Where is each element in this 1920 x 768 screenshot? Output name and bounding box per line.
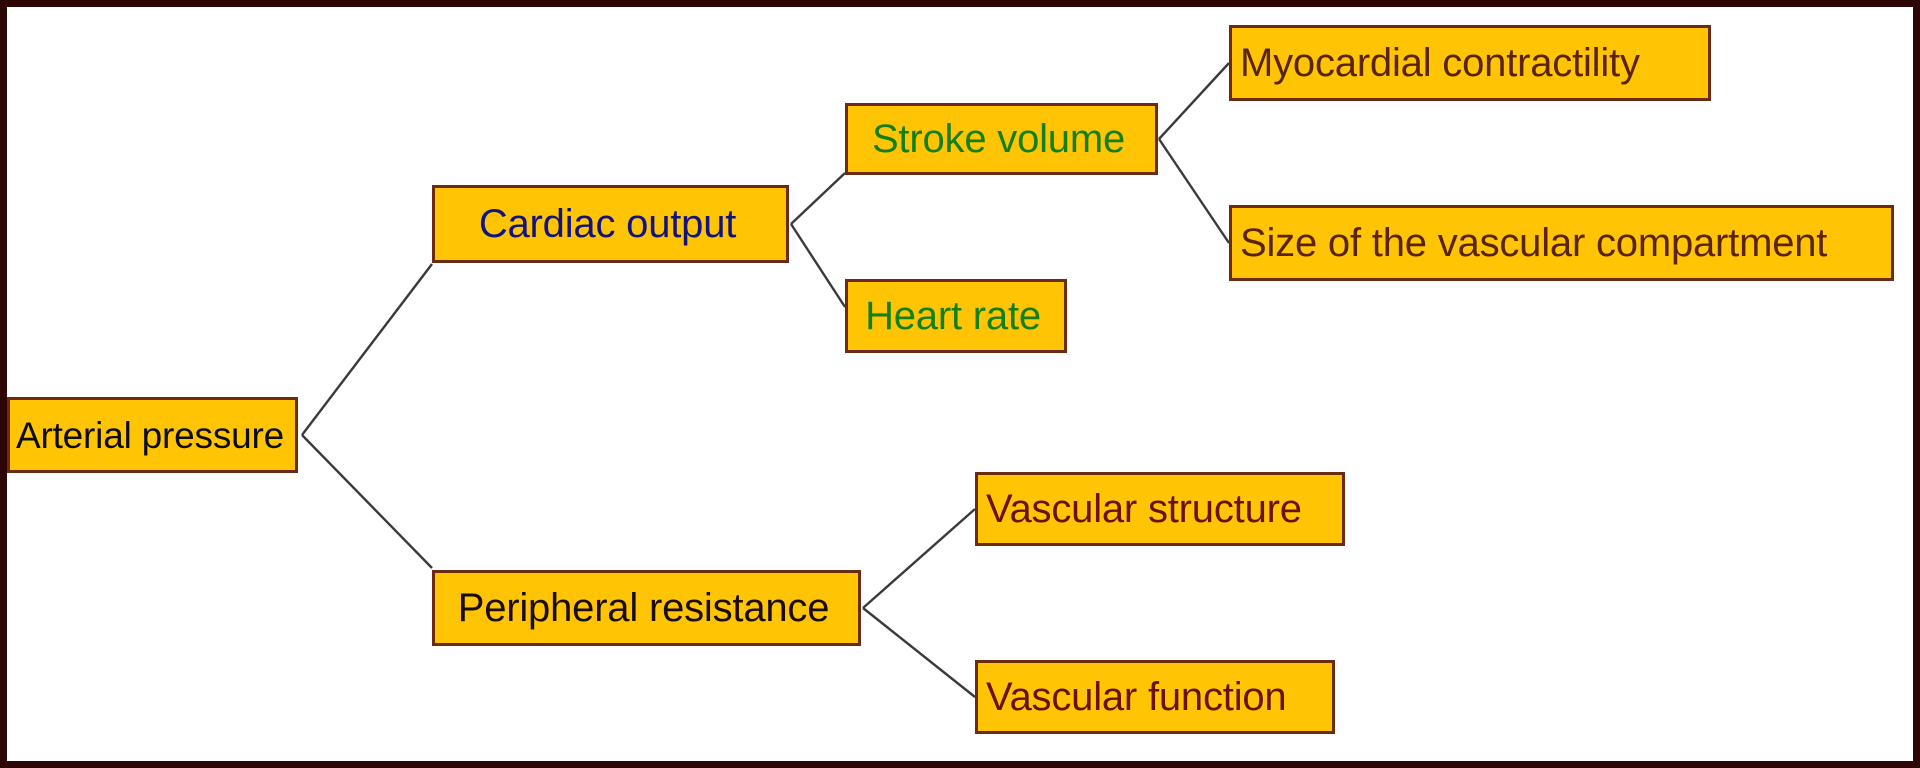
node-myocardial-contractility[interactable]: Myocardial contractility bbox=[1229, 25, 1711, 101]
node-label-arterial-pressure: Arterial pressure bbox=[10, 417, 290, 454]
node-arterial-pressure[interactable]: Arterial pressure bbox=[7, 397, 298, 473]
node-vascular-function[interactable]: Vascular function bbox=[975, 660, 1335, 734]
node-label-myocardial-contractility: Myocardial contractility bbox=[1232, 43, 1646, 83]
node-label-stroke-volume: Stroke volume bbox=[872, 119, 1131, 159]
connector-arterial-to-cardiac bbox=[302, 264, 432, 435]
node-label-size-of-vascular-compartment: Size of the vascular compartment bbox=[1232, 223, 1833, 263]
connector-cardiac-to-stroke-volume bbox=[791, 173, 845, 224]
diagram-inner-area: Arterial pressureCardiac outputPeriphera… bbox=[7, 7, 1913, 761]
node-stroke-volume[interactable]: Stroke volume bbox=[845, 103, 1158, 175]
connector-stroke-volume-to-myocardial bbox=[1159, 63, 1229, 139]
connector-cardiac-to-heart-rate bbox=[791, 224, 845, 307]
node-label-heart-rate: Heart rate bbox=[865, 296, 1047, 336]
node-size-of-vascular-compartment[interactable]: Size of the vascular compartment bbox=[1229, 205, 1894, 281]
node-label-cardiac-output: Cardiac output bbox=[479, 204, 742, 244]
connector-stroke-volume-to-size bbox=[1159, 139, 1229, 243]
connector-peripheral-to-function bbox=[863, 608, 975, 697]
node-heart-rate[interactable]: Heart rate bbox=[845, 279, 1067, 353]
node-label-vascular-structure: Vascular structure bbox=[978, 489, 1308, 529]
node-vascular-structure[interactable]: Vascular structure bbox=[975, 472, 1345, 546]
node-label-peripheral-resistance: Peripheral resistance bbox=[458, 588, 836, 628]
node-peripheral-resistance[interactable]: Peripheral resistance bbox=[432, 570, 861, 646]
node-label-vascular-function: Vascular function bbox=[978, 677, 1292, 717]
connector-arterial-to-peripheral bbox=[302, 435, 432, 568]
diagram-canvas: Arterial pressureCardiac outputPeriphera… bbox=[0, 0, 1920, 768]
node-cardiac-output[interactable]: Cardiac output bbox=[432, 185, 789, 263]
connector-peripheral-to-structure bbox=[863, 509, 975, 608]
